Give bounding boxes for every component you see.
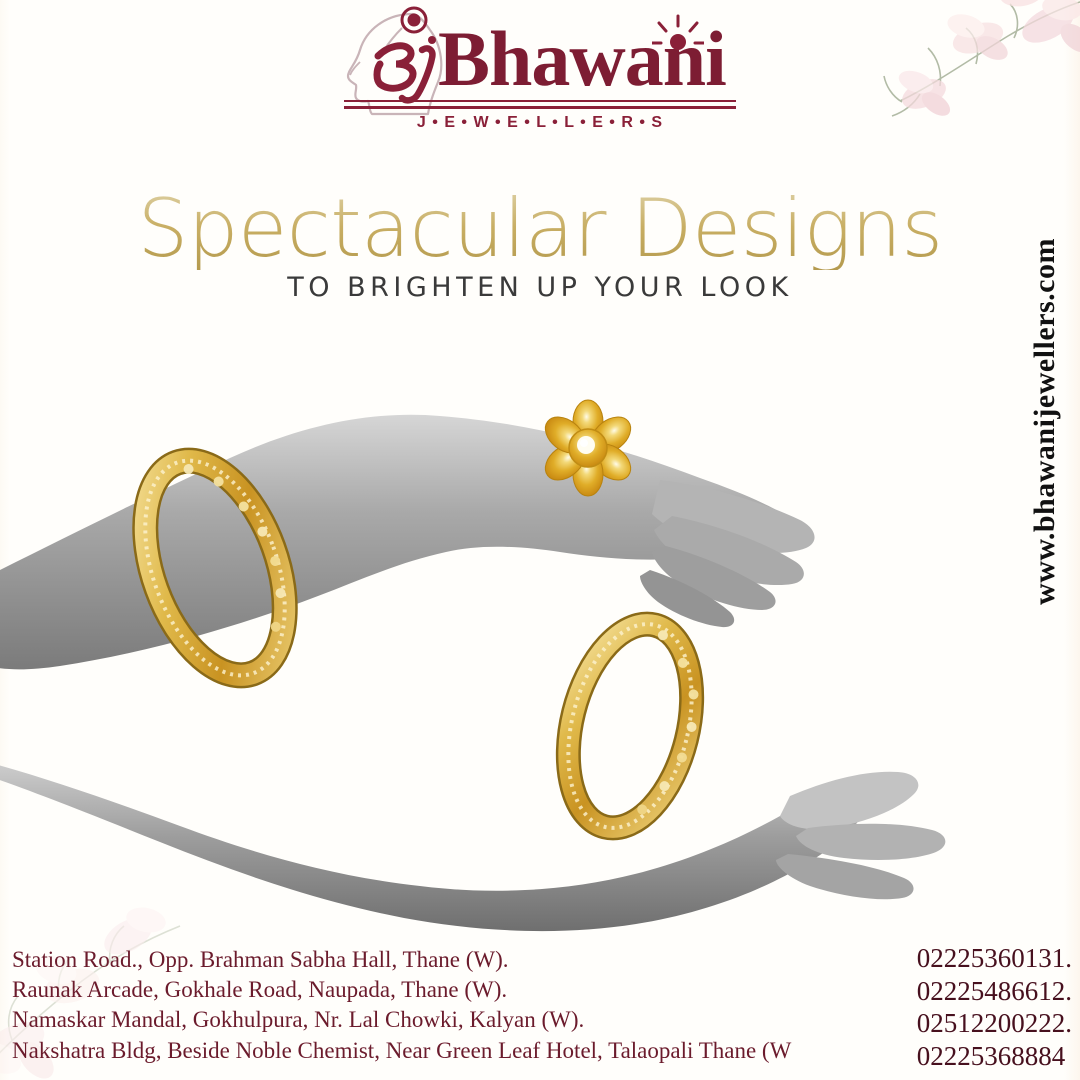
- phone-line[interactable]: 02512200222.: [917, 1007, 1072, 1039]
- footer: Station Road., Opp. Brahman Sabha Hall, …: [0, 950, 1080, 1080]
- phone-numbers: 02225360131. 02225486612. 02512200222. 0…: [917, 942, 1072, 1072]
- phone-line[interactable]: 02225368884: [917, 1040, 1072, 1072]
- poster-canvas: Bhawani J • E • W • E • L • L • E • R •: [0, 0, 1080, 1080]
- brand-tagline: J • E • W • E • L • L • E • R • S: [344, 114, 736, 132]
- phone-line[interactable]: 02225486612.: [917, 975, 1072, 1007]
- address-line: Raunak Arcade, Gokhale Road, Naupada, Th…: [12, 975, 791, 1005]
- headline-block: Spectacular Designs TO BRIGHTEN UP YOUR …: [0, 188, 1080, 303]
- sunburst-icon: [652, 12, 704, 64]
- page-subtitle: TO BRIGHTEN UP YOUR LOOK: [0, 272, 1080, 303]
- logo-divider: [344, 100, 736, 109]
- jewellery-hands-photo: [0, 330, 1080, 950]
- brand-logo: Bhawani J • E • W • E • L • L • E • R •: [0, 6, 1080, 138]
- phone-line[interactable]: 02225360131.: [917, 942, 1072, 974]
- store-addresses: Station Road., Opp. Brahman Sabha Hall, …: [12, 945, 791, 1066]
- page-title: Spectacular Designs: [0, 188, 1080, 270]
- address-line: Nakshatra Bldg, Beside Noble Chemist, Ne…: [12, 1036, 791, 1066]
- address-line: Namaskar Mandal, Gokhulpura, Nr. Lal Cho…: [12, 1005, 791, 1035]
- lower-bangle: [549, 611, 718, 841]
- address-line: Station Road., Opp. Brahman Sabha Hall, …: [12, 945, 791, 975]
